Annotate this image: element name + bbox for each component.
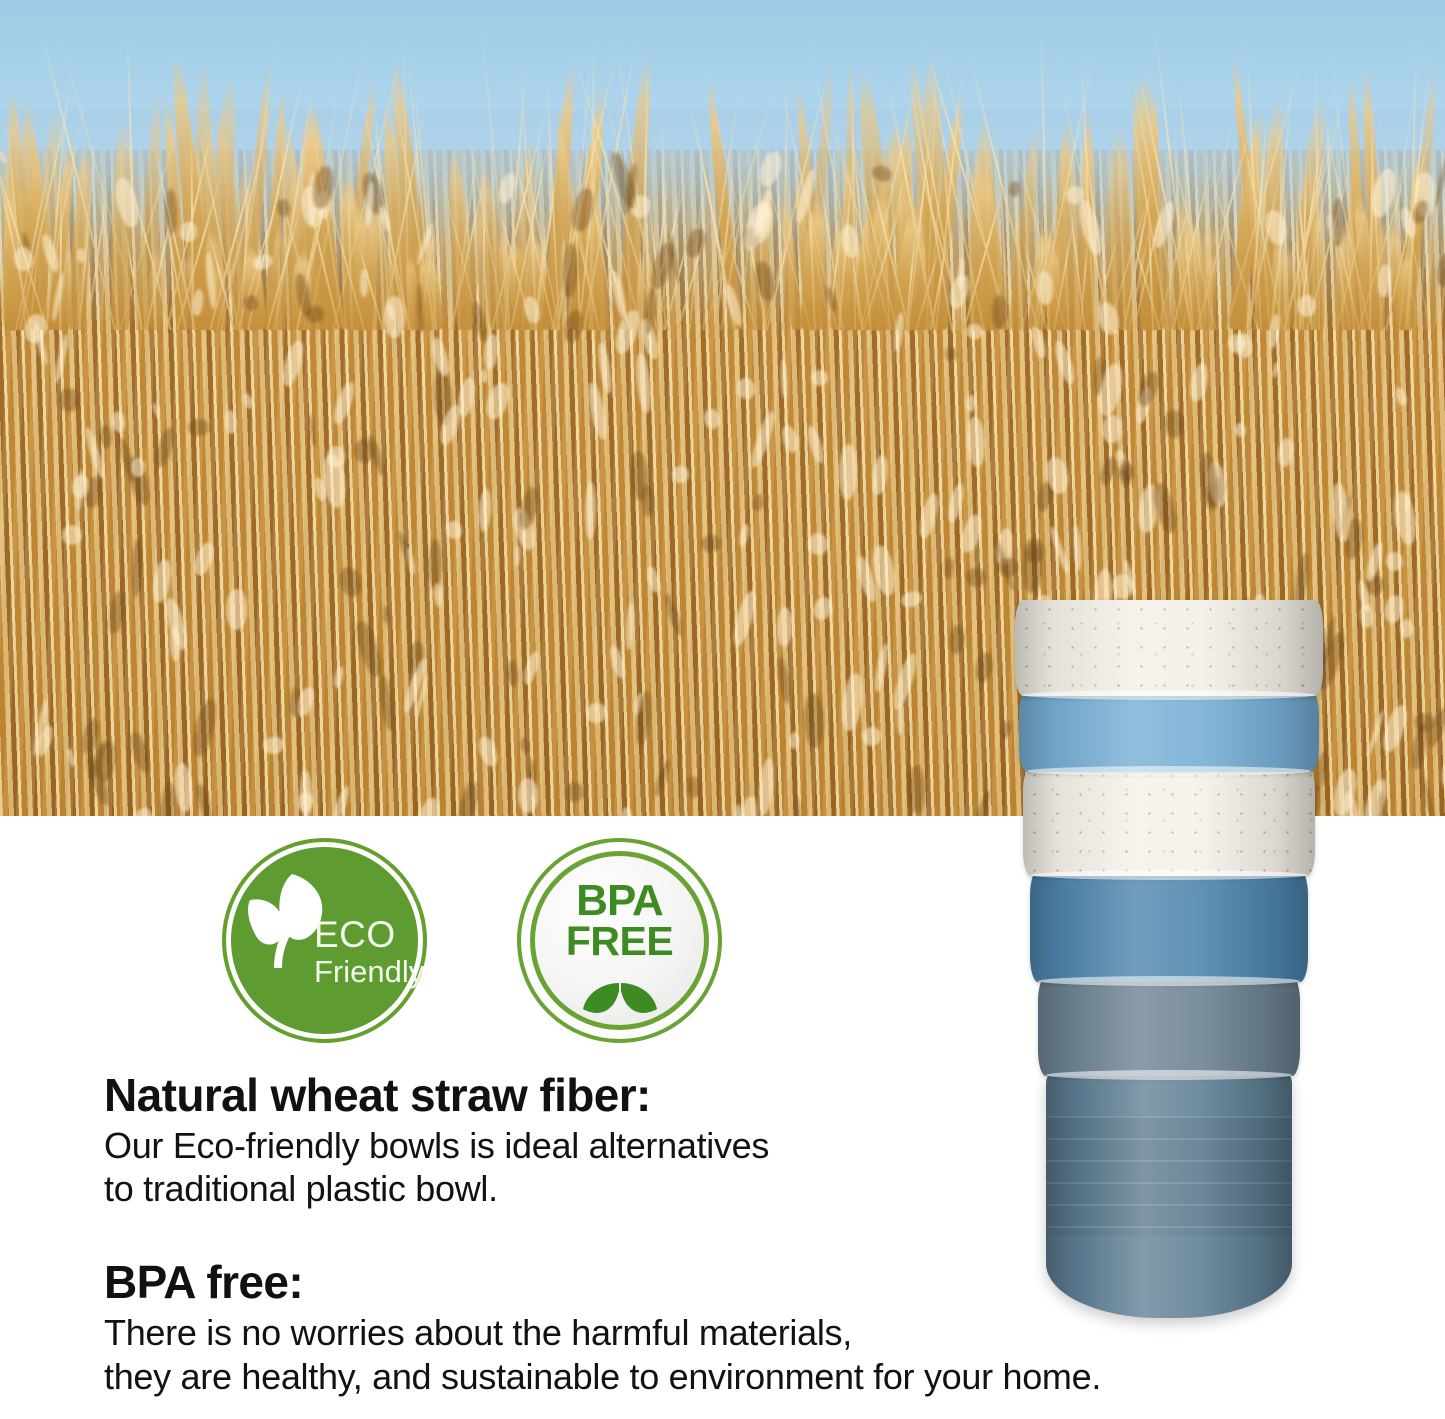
cup-rim-highlight bbox=[1031, 870, 1307, 880]
speckle-texture bbox=[1023, 766, 1315, 876]
certification-badges: ECO Friendly BPA FREE bbox=[0, 838, 760, 1043]
cup-rim-highlight bbox=[1027, 766, 1311, 776]
wheat-shadow-blob bbox=[641, 485, 654, 517]
bpa-free-badge: BPA FREE bbox=[517, 838, 722, 1043]
wheat-awn bbox=[689, 186, 703, 330]
eco-badge-label: ECO Friendly bbox=[314, 916, 420, 987]
wheat-awn bbox=[1041, 204, 1043, 330]
cup-shading bbox=[1046, 1070, 1292, 1318]
wheat-grain-blob bbox=[1102, 414, 1123, 442]
bpa-badge-line1: BPA bbox=[517, 880, 722, 922]
wheat-grain-blob bbox=[481, 369, 488, 383]
cup-steel-blue bbox=[1030, 870, 1308, 982]
eco-friendly-badge: ECO Friendly bbox=[222, 838, 427, 1043]
feature-body-line: they are healthy, and sustainable to env… bbox=[104, 1355, 1354, 1399]
cup-slate-blue bbox=[1046, 1070, 1292, 1318]
wheat-grain-blob bbox=[360, 269, 368, 297]
wheat-shadow-blob bbox=[382, 604, 390, 623]
wheat-shadow-blob bbox=[907, 765, 925, 814]
stacked-wheat-straw-cups: (function(){ var host = document.current… bbox=[1004, 600, 1334, 1316]
two-leaves-icon bbox=[579, 977, 661, 1021]
bpa-badge-line2: FREE bbox=[517, 922, 722, 961]
eco-badge-line1: ECO bbox=[314, 916, 420, 954]
cup-rim-highlight bbox=[1046, 1070, 1292, 1080]
wheat-grain-blob bbox=[226, 589, 247, 630]
wheat-awn bbox=[703, 172, 706, 330]
wheat-spikes-group: (function(){ var host = document.current… bbox=[0, 0, 1445, 330]
cup-rim-highlight bbox=[1023, 690, 1315, 700]
feature-body: There is no worries about the harmful ma… bbox=[104, 1311, 1354, 1399]
wheat-shadow-blob bbox=[992, 295, 1008, 329]
wheat-grain-blob bbox=[131, 458, 145, 477]
bpa-badge-label: BPA FREE bbox=[517, 880, 722, 962]
wheat-shadow-blob bbox=[565, 781, 583, 802]
wheat-shadow-blob bbox=[305, 305, 324, 323]
cup-rim-highlight bbox=[1038, 976, 1300, 986]
cup-cream-middle bbox=[1023, 766, 1315, 876]
cup-slate-gray bbox=[1038, 976, 1300, 1076]
cup-cream-top bbox=[1015, 600, 1323, 696]
speckle-texture bbox=[1015, 600, 1323, 696]
cup-light-blue bbox=[1019, 690, 1319, 772]
eco-badge-line2: Friendly bbox=[314, 956, 420, 988]
product-feature-image: (function(){ var host = document.current… bbox=[0, 0, 1445, 1419]
